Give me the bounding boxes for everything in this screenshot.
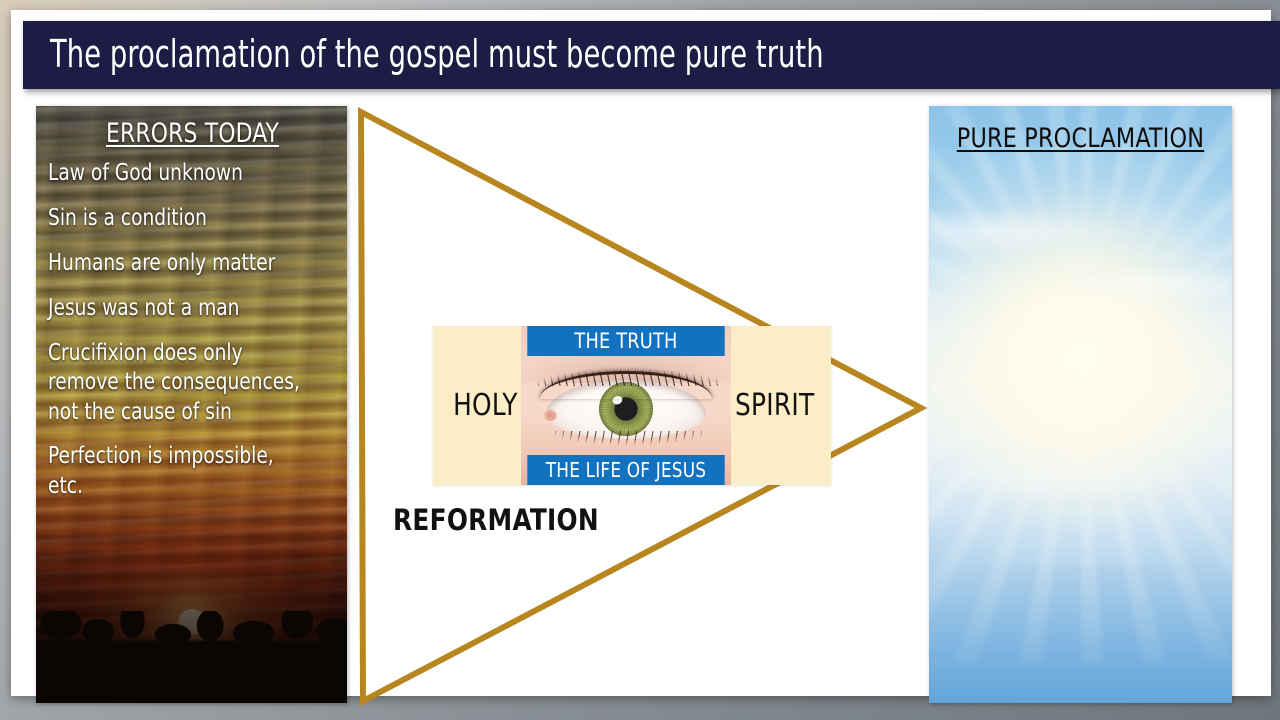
banner-the-truth: THE TRUTH <box>528 326 725 356</box>
holy-spirit-eye-card: HOLY THE TRUTH THE LIFE OF JESUS <box>433 326 831 485</box>
error-item: Perfection is impossible, etc. <box>48 442 308 502</box>
errors-today-content: ERRORS TODAY Law of God unknown Sin is a… <box>36 106 347 703</box>
error-item: Jesus was not a man <box>48 294 308 324</box>
banner-the-life-of-jesus: THE LIFE OF JESUS <box>528 455 725 485</box>
errors-today-panel: ERRORS TODAY Law of God unknown Sin is a… <box>36 106 347 703</box>
reformation-caption: REFORMATION <box>393 503 599 537</box>
slide-canvas: The proclamation of the gospel must beco… <box>11 10 1271 696</box>
spirit-label: SPIRIT <box>735 388 827 423</box>
error-item: Law of God unknown <box>48 159 308 189</box>
error-item: Sin is a condition <box>48 204 308 234</box>
pure-proclamation-heading: PURE PROCLAMATION <box>941 123 1220 154</box>
errors-today-heading: ERRORS TODAY <box>62 118 322 149</box>
page-title: The proclamation of the gospel must beco… <box>50 32 824 76</box>
error-item: Crucifixion does only remove the consequ… <box>48 339 308 429</box>
eye-image: THE TRUTH THE LIFE OF JESUS <box>521 326 731 485</box>
slide-stage: The proclamation of the gospel must beco… <box>0 0 1280 720</box>
holy-label: HOLY <box>437 388 518 423</box>
cloud-wisps <box>929 106 1232 703</box>
pure-proclamation-panel: PURE PROCLAMATION <box>929 106 1232 703</box>
title-bar: The proclamation of the gospel must beco… <box>23 21 1280 89</box>
error-item: Humans are only matter <box>48 249 308 279</box>
lower-eyelash-icon <box>555 431 702 453</box>
upper-eyelash-icon <box>538 358 719 387</box>
